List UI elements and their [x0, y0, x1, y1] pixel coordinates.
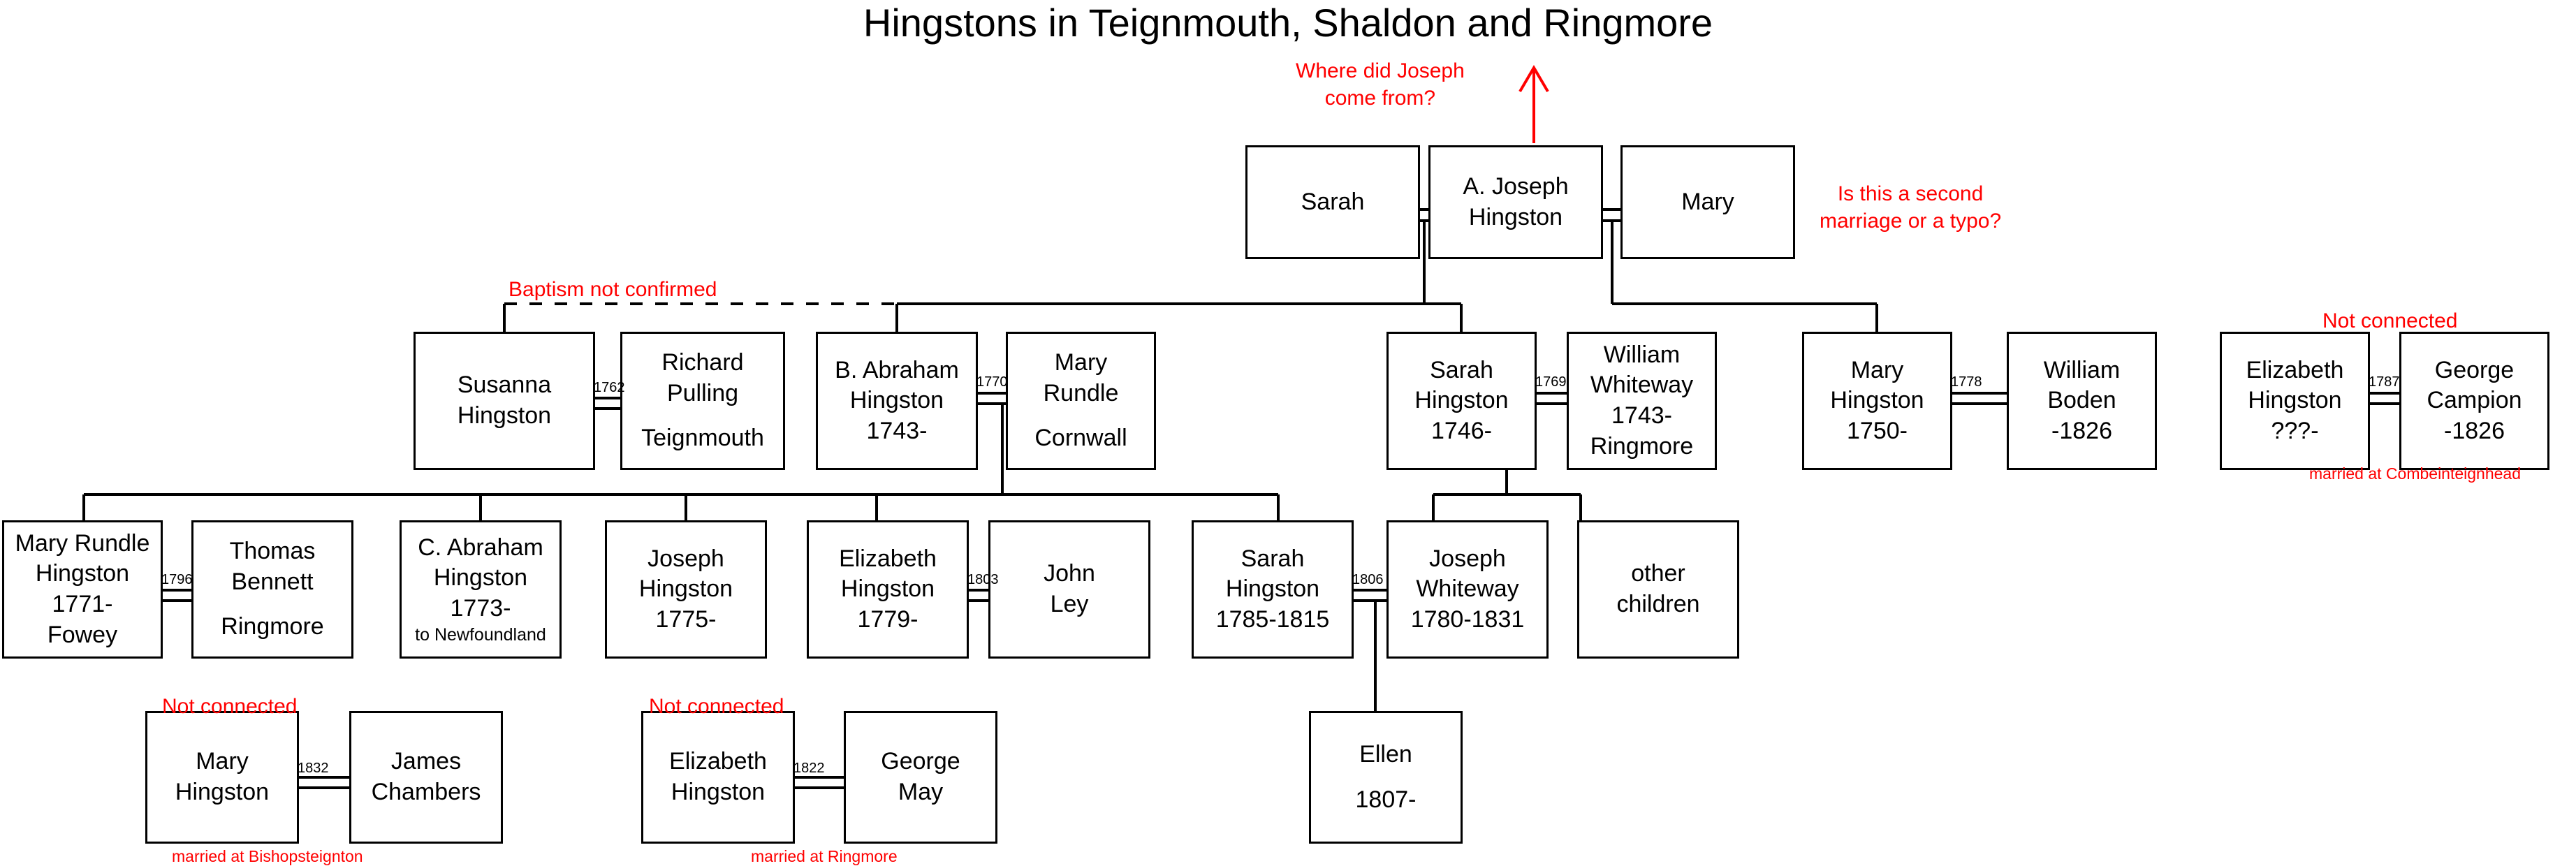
person-line: May [898, 777, 943, 808]
person-box-william-whiteway[interactable]: WilliamWhiteway1743-Ringmore [1567, 332, 1717, 470]
marriage-year-1762: 1762 [594, 381, 625, 395]
person-line: Hingston [841, 574, 935, 605]
person-line: 1771- [52, 589, 113, 620]
person-line: Susanna [458, 370, 551, 401]
person-box-george-campion[interactable]: GeorgeCampion-1826 [2399, 332, 2549, 470]
person-line: Mary [196, 747, 249, 777]
person-line: Sarah [1241, 544, 1305, 575]
person-line: Hingston [175, 777, 269, 808]
marriage-year-1778: 1778 [1951, 375, 1982, 389]
annotation-line-1: Not connected [649, 693, 784, 720]
annotation-not-connected-mary-chambers: Not connected [162, 693, 297, 720]
person-box-sarah-hingston-1785[interactable]: SarahHingston1785-1815 [1192, 520, 1354, 659]
marriage-year-1796: 1796 [161, 573, 193, 587]
family-tree-canvas: Hingstons in Teignmouth, Shaldon and Rin… [0, 0, 2576, 866]
person-box-richard-pulling[interactable]: RichardPullingTeignmouth [620, 332, 785, 470]
person-line: George [881, 747, 960, 777]
person-line: Hingston [2248, 386, 2341, 416]
annotation-line-2: come from? [1296, 85, 1465, 112]
person-line: John [1044, 559, 1095, 589]
person-box-elizabeth-hingston-1822[interactable]: ElizabethHingston [641, 711, 795, 844]
person-line: Hingston [434, 563, 527, 594]
person-box-mary-hingston-1832[interactable]: MaryHingston [145, 711, 299, 844]
person-box-john-ley[interactable]: JohnLey [988, 520, 1150, 659]
person-line: to Newfoundland [415, 624, 546, 646]
marriage-year-1832: 1832 [298, 761, 329, 775]
person-line: Joseph [1429, 544, 1506, 575]
annotation-married-bishopsteignton: married at Bishopsteignton [172, 846, 363, 866]
person-line: Fowey [47, 620, 117, 651]
person-box-george-may[interactable]: GeorgeMay [844, 711, 997, 844]
joseph-origin-arrow [1520, 68, 1548, 143]
person-line: 1780-1831 [1411, 605, 1525, 636]
marriage-year-1769: 1769 [1535, 375, 1567, 389]
annotation-not-connected-elizabeth-may: Not connected [649, 693, 784, 720]
annotation-not-connected-right: Not connected [2322, 307, 2457, 335]
person-line: 1750- [1847, 416, 1908, 447]
person-line: Bennett [231, 567, 313, 598]
person-line: Richard [661, 348, 743, 379]
person-line: 1779- [858, 605, 919, 636]
person-box-thomas-bennett[interactable]: ThomasBennettRingmore [191, 520, 353, 659]
person-line: Joseph [647, 544, 724, 575]
person-line: Teignmouth [641, 423, 764, 454]
person-line: Mary [1681, 187, 1734, 218]
person-line: Hingston [1414, 386, 1508, 416]
annotation-line-1: married at Ringmore [751, 846, 898, 866]
person-line: Elizabeth [2246, 355, 2344, 386]
annotation-line-1: Not connected [2322, 307, 2457, 335]
annotation-baptism-not-confirmed: Baptism not confirmed [508, 276, 717, 303]
person-line: William [1604, 340, 1681, 371]
annotation-second-marriage: Is this a secondmarriage or a typo? [1820, 180, 2001, 235]
person-line: Hingston [671, 777, 765, 808]
person-line: C. Abraham [418, 533, 543, 564]
person-line: 1773- [451, 594, 511, 624]
person-line: Chambers [372, 777, 481, 808]
annotation-line-1: married at Combeinteignhead [2309, 464, 2521, 485]
annotation-line-1: Not connected [162, 693, 297, 720]
person-line: 1775- [656, 605, 717, 636]
marriage-year-1803: 1803 [967, 573, 999, 587]
person-line: other [1631, 559, 1685, 589]
person-line: ???- [2271, 416, 2318, 447]
person-box-susanna-hingston[interactable]: SusannaHingston [414, 332, 595, 470]
person-box-c-abraham-hingston[interactable]: C. AbrahamHingston1773-to Newfoundland [400, 520, 562, 659]
annotation-line-1: Where did Joseph [1296, 57, 1465, 85]
person-line: Mary [1055, 348, 1108, 379]
person-box-elizabeth-hingston-q[interactable]: ElizabethHingston???- [2220, 332, 2370, 470]
person-line: Sarah [1301, 187, 1365, 218]
person-box-b-abraham-hingston[interactable]: B. AbrahamHingston1743- [816, 332, 978, 470]
person-line: Hingston [639, 574, 733, 605]
annotation-where-did-joseph: Where did Josephcome from? [1296, 57, 1465, 112]
annotation-line-1: married at Bishopsteignton [172, 846, 363, 866]
person-line: Hingston [850, 386, 944, 416]
person-line: 1807- [1356, 785, 1417, 816]
person-box-mary-rundle-hingston[interactable]: Mary RundleHingston1771-Fowey [2, 520, 163, 659]
person-line: Rundle [1044, 379, 1119, 409]
person-line: William [2044, 355, 2121, 386]
person-box-elizabeth-hingston-1779[interactable]: ElizabethHingston1779- [807, 520, 969, 659]
person-line: Elizabeth [669, 747, 767, 777]
page-title: Hingstons in Teignmouth, Shaldon and Rin… [0, 0, 2576, 45]
person-line: Ringmore [1590, 432, 1693, 462]
person-box-sarah-hingston-1746[interactable]: SarahHingston1746- [1386, 332, 1537, 470]
marriage-year-1822: 1822 [793, 761, 825, 775]
person-line: Pulling [667, 379, 738, 409]
person-line: Whiteway [1416, 574, 1518, 605]
marriage-year-1806: 1806 [1352, 573, 1384, 587]
person-line: Cornwall [1034, 423, 1127, 454]
person-line: 1746- [1431, 416, 1492, 447]
person-line: Sarah [1430, 355, 1493, 386]
annotation-line-1: Is this a second [1820, 180, 2001, 207]
marriage-year-1770: 1770 [976, 375, 1008, 389]
person-line: Hingston [36, 559, 129, 589]
annotation-married-ringmore: married at Ringmore [751, 846, 898, 866]
person-box-mary-spouse[interactable]: Mary [1620, 145, 1795, 259]
person-line: Elizabeth [839, 544, 937, 575]
person-line: 1785-1815 [1216, 605, 1330, 636]
person-line: -1826 [2444, 416, 2505, 447]
person-box-joseph-hingston-1775[interactable]: JosephHingston1775- [605, 520, 767, 659]
annotation-line-2: marriage or a typo? [1820, 207, 2001, 235]
person-box-a-joseph-hingston[interactable]: A. JosephHingston [1428, 145, 1603, 259]
person-line: Mary [1851, 355, 1904, 386]
person-box-william-boden[interactable]: WilliamBoden-1826 [2007, 332, 2157, 470]
person-line: James [391, 747, 461, 777]
person-line: Campion [2427, 386, 2522, 416]
annotation-married-combeinteignhead: married at Combeinteignhead [2309, 464, 2521, 485]
person-line: A. Joseph [1463, 172, 1568, 203]
person-line: Boden [2047, 386, 2116, 416]
person-line: children [1616, 589, 1699, 620]
person-line: Hingston [1469, 203, 1563, 233]
person-box-other-children[interactable]: otherchildren [1577, 520, 1739, 659]
person-line: -1826 [2051, 416, 2112, 447]
person-box-joseph-whiteway[interactable]: JosephWhiteway1780-1831 [1386, 520, 1549, 659]
person-box-mary-hingston-1750[interactable]: MaryHingston1750- [1802, 332, 1952, 470]
annotation-line-1: Baptism not confirmed [508, 276, 717, 303]
person-line: Hingston [1226, 574, 1319, 605]
person-box-sarah-spouse[interactable]: Sarah [1245, 145, 1420, 259]
person-line: George [2435, 355, 2514, 386]
person-box-mary-rundle[interactable]: MaryRundleCornwall [1006, 332, 1156, 470]
person-line: Ley [1051, 589, 1089, 620]
person-line: Whiteway [1590, 370, 1693, 401]
marriage-year-1787: 1787 [2369, 375, 2400, 389]
person-line: Thomas [230, 536, 316, 567]
person-line: B. Abraham [835, 355, 959, 386]
person-line: Hingston [1830, 386, 1924, 416]
person-line: 1743- [1611, 401, 1672, 432]
person-line: Ringmore [221, 612, 323, 643]
person-line: Hingston [458, 401, 551, 432]
person-line: 1743- [867, 416, 928, 447]
person-line: Ellen [1359, 740, 1412, 770]
person-line: Mary Rundle [15, 529, 150, 559]
person-box-ellen-1807[interactable]: Ellen1807- [1309, 711, 1463, 844]
person-box-james-chambers[interactable]: JamesChambers [349, 711, 503, 844]
